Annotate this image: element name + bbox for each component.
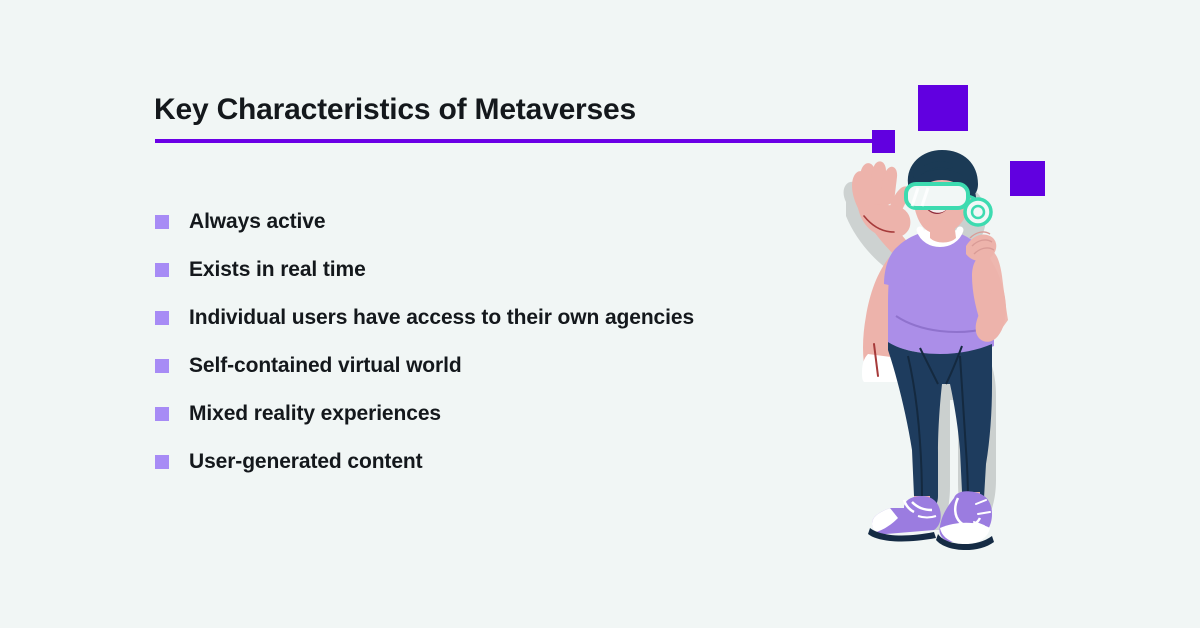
bullet-square-icon [155, 359, 169, 373]
characteristics-list: Always active Exists in real time Indivi… [155, 198, 694, 486]
shoes [868, 491, 994, 550]
bullet-square-icon [155, 263, 169, 277]
list-item: Self-contained virtual world [155, 342, 694, 390]
person-wearing-vr-headset-illustration [800, 150, 1060, 570]
page-title: Key Characteristics of Metaverses [154, 93, 636, 127]
list-item: Individual users have access to their ow… [155, 294, 694, 342]
list-item: Exists in real time [155, 246, 694, 294]
list-item: User-generated content [155, 438, 694, 486]
list-item-label: User-generated content [189, 450, 423, 474]
list-item: Always active [155, 198, 694, 246]
list-item-label: Individual users have access to their ow… [189, 306, 694, 330]
bullet-square-icon [155, 215, 169, 229]
list-item-label: Exists in real time [189, 258, 366, 282]
infographic-canvas: Key Characteristics of Metaverses Always… [0, 0, 1200, 628]
title-underline-rule [155, 139, 880, 143]
list-item: Mixed reality experiences [155, 390, 694, 438]
list-item-label: Mixed reality experiences [189, 402, 441, 426]
bullet-square-icon [155, 407, 169, 421]
bullet-square-icon [155, 455, 169, 469]
bullet-square-icon [155, 311, 169, 325]
purple-square-decoration-large [918, 85, 968, 131]
list-item-label: Self-contained virtual world [189, 354, 462, 378]
list-item-label: Always active [189, 210, 325, 234]
